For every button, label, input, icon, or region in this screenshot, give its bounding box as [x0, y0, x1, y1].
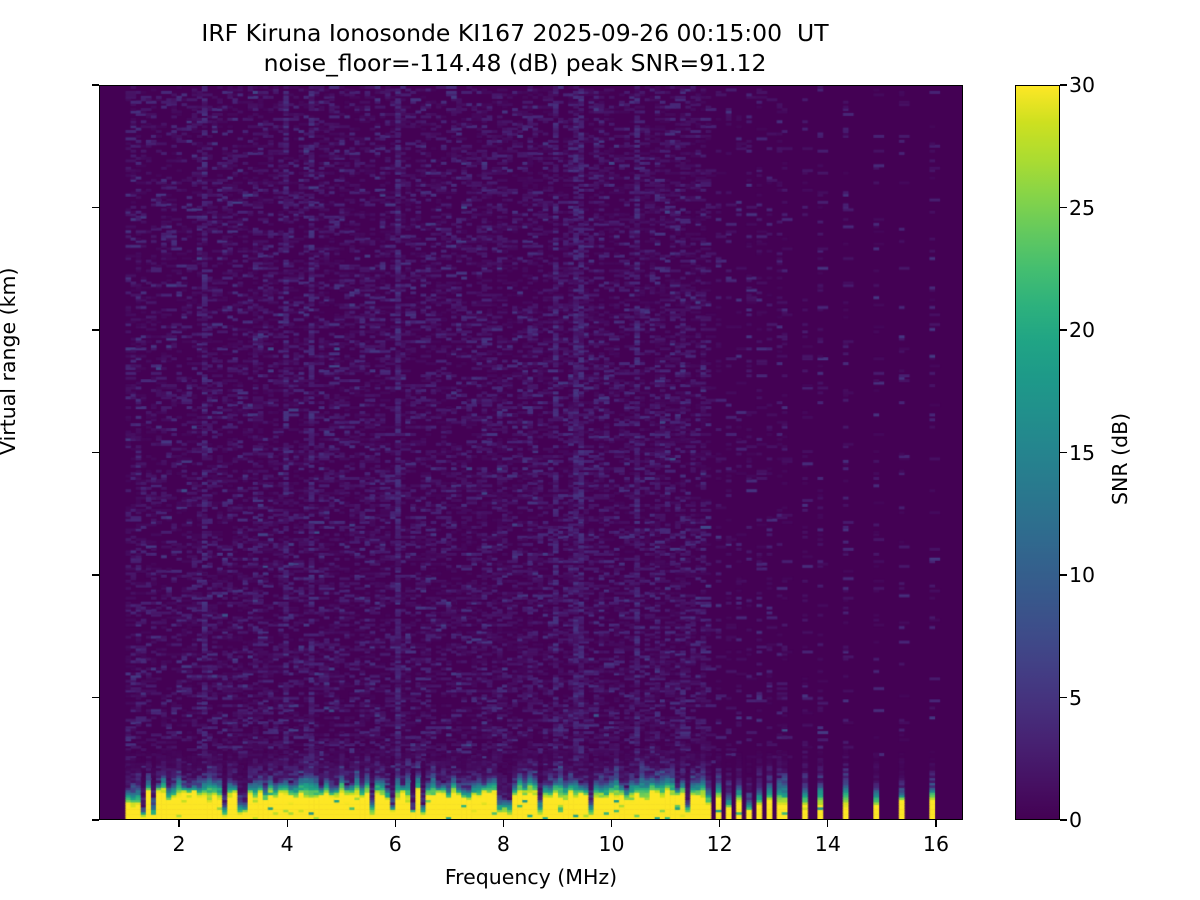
colorbar-label: SNR (dB): [1108, 413, 1132, 505]
colorbar-tick-label: 10: [1069, 563, 1095, 587]
x-tick-label: 14: [815, 832, 841, 856]
title-line-2: noise_floor=-114.48 (dB) peak SNR=91.12: [0, 48, 1030, 78]
y-tick-mark: [92, 452, 99, 453]
x-tick-label: 12: [707, 832, 733, 856]
x-tick-mark: [178, 820, 179, 827]
figure-title: IRF Kiruna Ionosonde KI167 2025-09-26 00…: [0, 18, 1030, 78]
colorbar-tick-mark: [1060, 207, 1067, 208]
colorbar-tick-label: 30: [1069, 73, 1095, 97]
x-axis-label: Frequency (MHz): [99, 865, 963, 889]
colorbar-tick-mark: [1060, 574, 1067, 575]
y-tick-mark: [92, 207, 99, 208]
colorbar-tick-mark: [1060, 329, 1067, 330]
colorbar-tick-mark: [1060, 452, 1067, 453]
ionogram-heatmap-canvas: [100, 86, 962, 819]
colorbar-tick-label: 20: [1069, 318, 1095, 342]
x-tick-label: 16: [923, 832, 949, 856]
colorbar-tick-label: 0: [1069, 808, 1082, 832]
y-tick-mark: [92, 574, 99, 575]
x-tick-mark: [611, 820, 612, 827]
colorbar-tick-label: 5: [1069, 686, 1082, 710]
x-tick-mark: [287, 820, 288, 827]
y-tick-mark: [92, 84, 99, 85]
colorbar: [1015, 85, 1060, 820]
ionogram-plot-area: [99, 85, 963, 820]
colorbar-tick-label: 25: [1069, 196, 1095, 220]
ionogram-figure: IRF Kiruna Ionosonde KI167 2025-09-26 00…: [0, 0, 1200, 900]
y-axis-label: Virtual range (km): [0, 268, 20, 455]
colorbar-gradient: [1016, 86, 1059, 819]
y-tick-mark: [92, 329, 99, 330]
x-tick-mark: [827, 820, 828, 827]
x-tick-mark: [503, 820, 504, 827]
x-tick-mark: [935, 820, 936, 827]
colorbar-tick-label: 15: [1069, 441, 1095, 465]
x-tick-label: 2: [172, 832, 185, 856]
colorbar-tick-mark: [1060, 84, 1067, 85]
title-line-1: IRF Kiruna Ionosonde KI167 2025-09-26 00…: [0, 18, 1030, 48]
x-tick-mark: [395, 820, 396, 827]
x-tick-label: 6: [389, 832, 402, 856]
colorbar-tick-mark: [1060, 819, 1067, 820]
x-tick-label: 10: [599, 832, 625, 856]
x-tick-label: 4: [281, 832, 294, 856]
x-tick-label: 8: [497, 832, 510, 856]
y-tick-mark: [92, 697, 99, 698]
colorbar-tick-mark: [1060, 697, 1067, 698]
y-tick-mark: [92, 819, 99, 820]
x-tick-mark: [719, 820, 720, 827]
